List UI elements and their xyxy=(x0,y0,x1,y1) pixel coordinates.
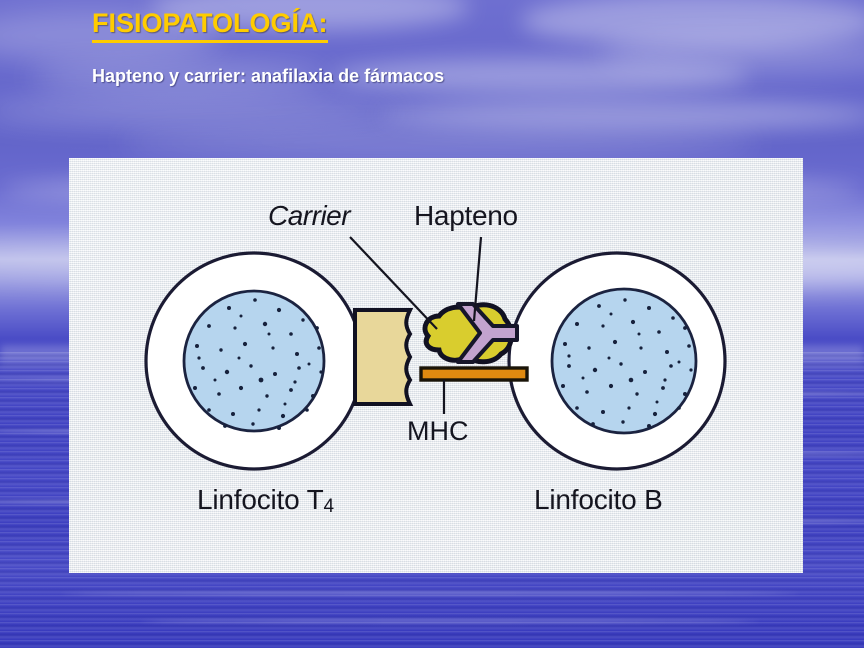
label-mhc: MHC xyxy=(407,416,469,447)
t-cell-receptor-column xyxy=(355,310,410,404)
t-cell-nucleus xyxy=(184,291,324,431)
lymphocyte-t-cell xyxy=(146,253,362,469)
label-carrier: Carrier xyxy=(268,200,350,232)
label-lymphocyte-t-subscript: 4 xyxy=(323,496,333,517)
mhc-bar xyxy=(421,368,527,380)
cloud-shape xyxy=(120,130,760,156)
slide-canvas: FISIOPATOLOGÍA: Hapteno y carrier: anafi… xyxy=(0,0,864,648)
label-hapteno: Hapteno xyxy=(414,200,518,232)
label-lymphocyte-t: Linfocito T4 xyxy=(197,484,334,516)
water-streak xyxy=(140,620,760,623)
cloud-shape xyxy=(380,100,864,130)
lymphocyte-b-cell xyxy=(509,253,725,469)
label-lymphocyte-b: Linfocito B xyxy=(534,484,663,516)
slide-title-wrapper: FISIOPATOLOGÍA: xyxy=(92,6,328,43)
slide-title: FISIOPATOLOGÍA: xyxy=(92,6,328,43)
slide-subtitle: Hapteno y carrier: anafilaxia de fármaco… xyxy=(92,64,444,88)
label-lymphocyte-t-text: Linfocito T xyxy=(197,484,323,515)
figure-panel: Carrier Hapteno MHC Linfocito T4 Linfoci… xyxy=(69,158,803,573)
water-streak xyxy=(60,592,800,595)
b-cell-nucleus xyxy=(552,289,696,433)
